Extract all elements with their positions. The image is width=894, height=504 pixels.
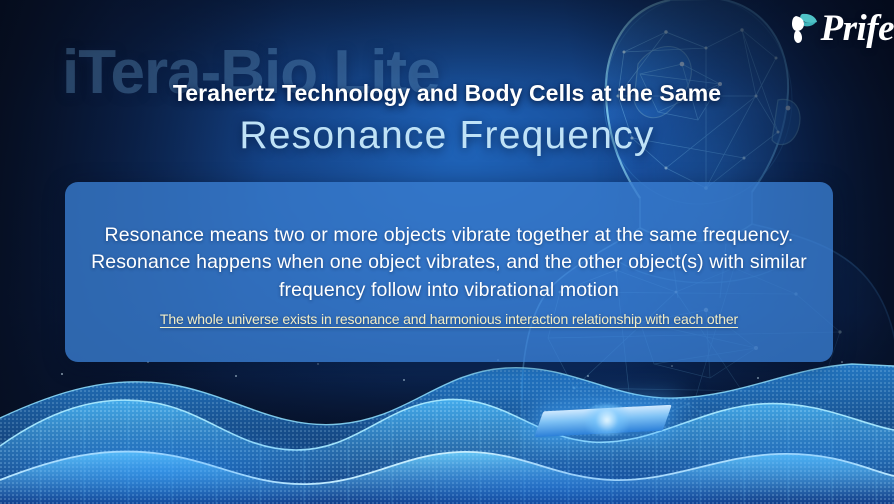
tablet-light-flare	[578, 404, 636, 436]
particle-wave-terrain	[0, 354, 894, 504]
panel-body-text: Resonance means two or more objects vibr…	[87, 222, 811, 305]
slide-canvas: iTera-Bio Lite Terahertz Technology and …	[0, 0, 894, 504]
page-title-line2: Resonance Frequency	[0, 113, 894, 159]
panel-note-text: The whole universe exists in resonance a…	[65, 311, 833, 327]
heading-block: Terahertz Technology and Body Cells at t…	[0, 80, 894, 159]
page-title-line1: Terahertz Technology and Body Cells at t…	[0, 80, 894, 107]
wave-glow	[0, 354, 894, 504]
brand-logo-text: Prife	[820, 10, 894, 47]
content-panel: Resonance means two or more objects vibr…	[65, 182, 833, 362]
prife-leaf-mark-icon	[788, 11, 818, 45]
brand-logo: Prife	[788, 6, 894, 50]
